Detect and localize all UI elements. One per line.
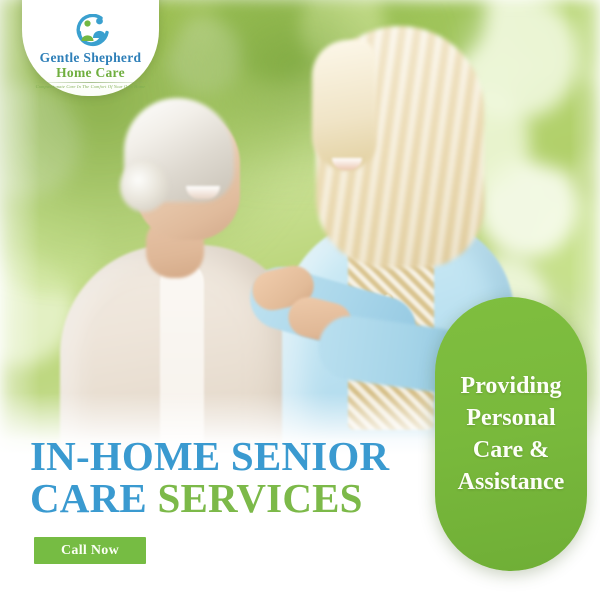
- badge-text: Providing Personal Care & Assistance: [458, 370, 565, 499]
- headline-line-2-blue: CARE: [30, 475, 157, 521]
- headline-block: IN-HOME SENIOR CARE SERVICES: [30, 435, 430, 519]
- brand-logo-badge[interactable]: Gentle Shepherd Home Care Compassionate …: [22, 0, 159, 96]
- badge-line-2: Personal: [458, 402, 565, 434]
- badge-line-4: Assistance: [458, 466, 565, 498]
- badge-line-1: Providing: [458, 370, 565, 402]
- family-care-circle-icon: [70, 14, 112, 48]
- caregiver-hair-front: [312, 40, 376, 170]
- brand-name-line2: Home Care: [56, 65, 125, 80]
- headline-line-2: CARE SERVICES: [30, 477, 430, 519]
- call-now-button[interactable]: Call Now: [34, 537, 146, 564]
- senior-woman-hair-bun: [120, 160, 168, 212]
- headline-line-2-green: SERVICES: [157, 475, 362, 521]
- value-proposition-badge: Providing Personal Care & Assistance: [435, 297, 587, 571]
- headline-line-1: IN-HOME SENIOR: [30, 435, 430, 477]
- brand-tagline: Compassionate Care In The Comfort Of You…: [36, 84, 146, 89]
- logo-divider: [32, 82, 150, 83]
- home-care-ad-banner: Gentle Shepherd Home Care Compassionate …: [0, 0, 600, 600]
- badge-line-3: Care &: [458, 434, 565, 466]
- brand-name-line1: Gentle Shepherd: [40, 50, 142, 65]
